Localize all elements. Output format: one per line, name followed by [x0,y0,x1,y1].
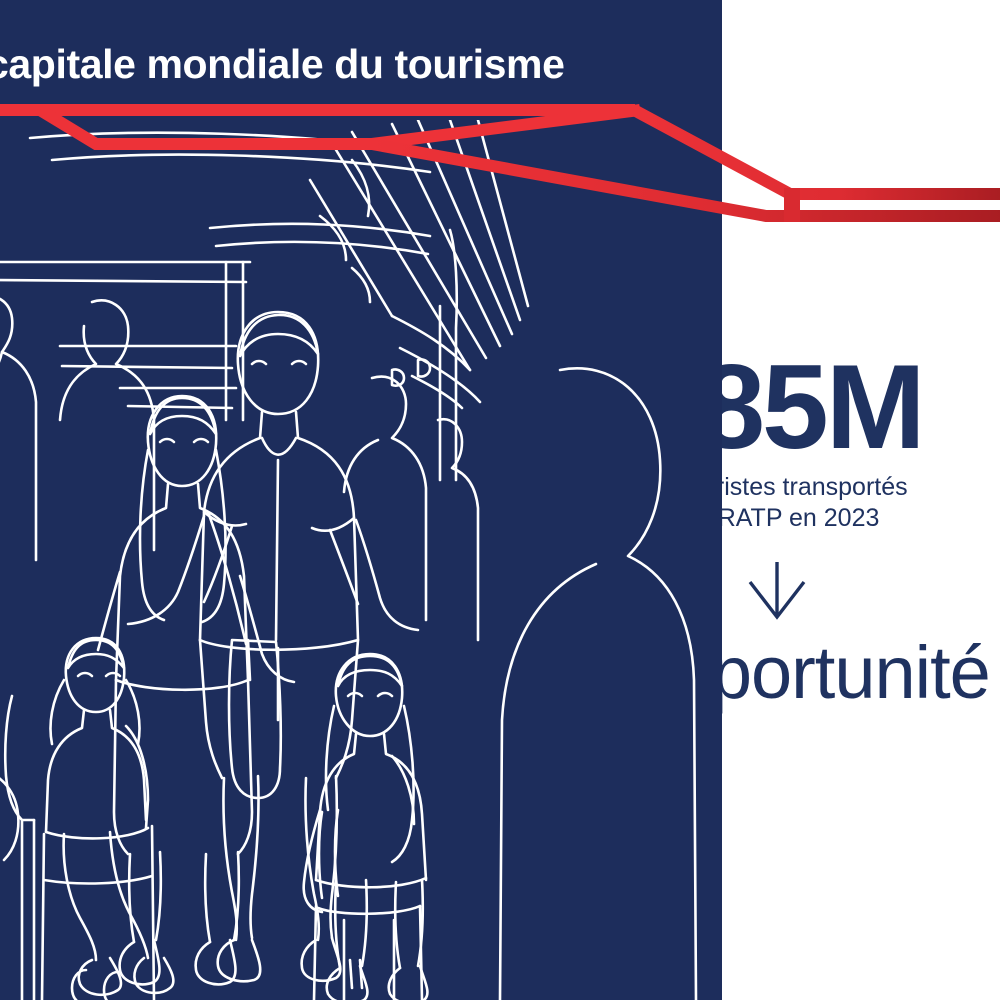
right-panel: +85M de touristes transportés par RATP e… [722,0,1000,1000]
slide-root: capitale mondiale du tourisme +85M de to… [0,0,1000,1000]
page-title: capitale mondiale du tourisme [0,44,722,85]
metro-family-travellers-line-art [0,120,722,1000]
conclusion-word: Opportunité [722,636,1000,710]
stat-caption-line-2: par RATP en 2023 [722,503,1000,534]
stat-caption-line-1: de touristes transportés [722,472,1000,503]
arrow-down-icon [722,560,1000,622]
navy-panel: capitale mondiale du tourisme [0,0,722,1000]
stat-number: +85M [722,352,1000,462]
statistic-block: +85M de touristes transportés par RATP e… [722,352,1000,533]
stat-caption: de touristes transportés par RATP en 202… [722,472,1000,533]
